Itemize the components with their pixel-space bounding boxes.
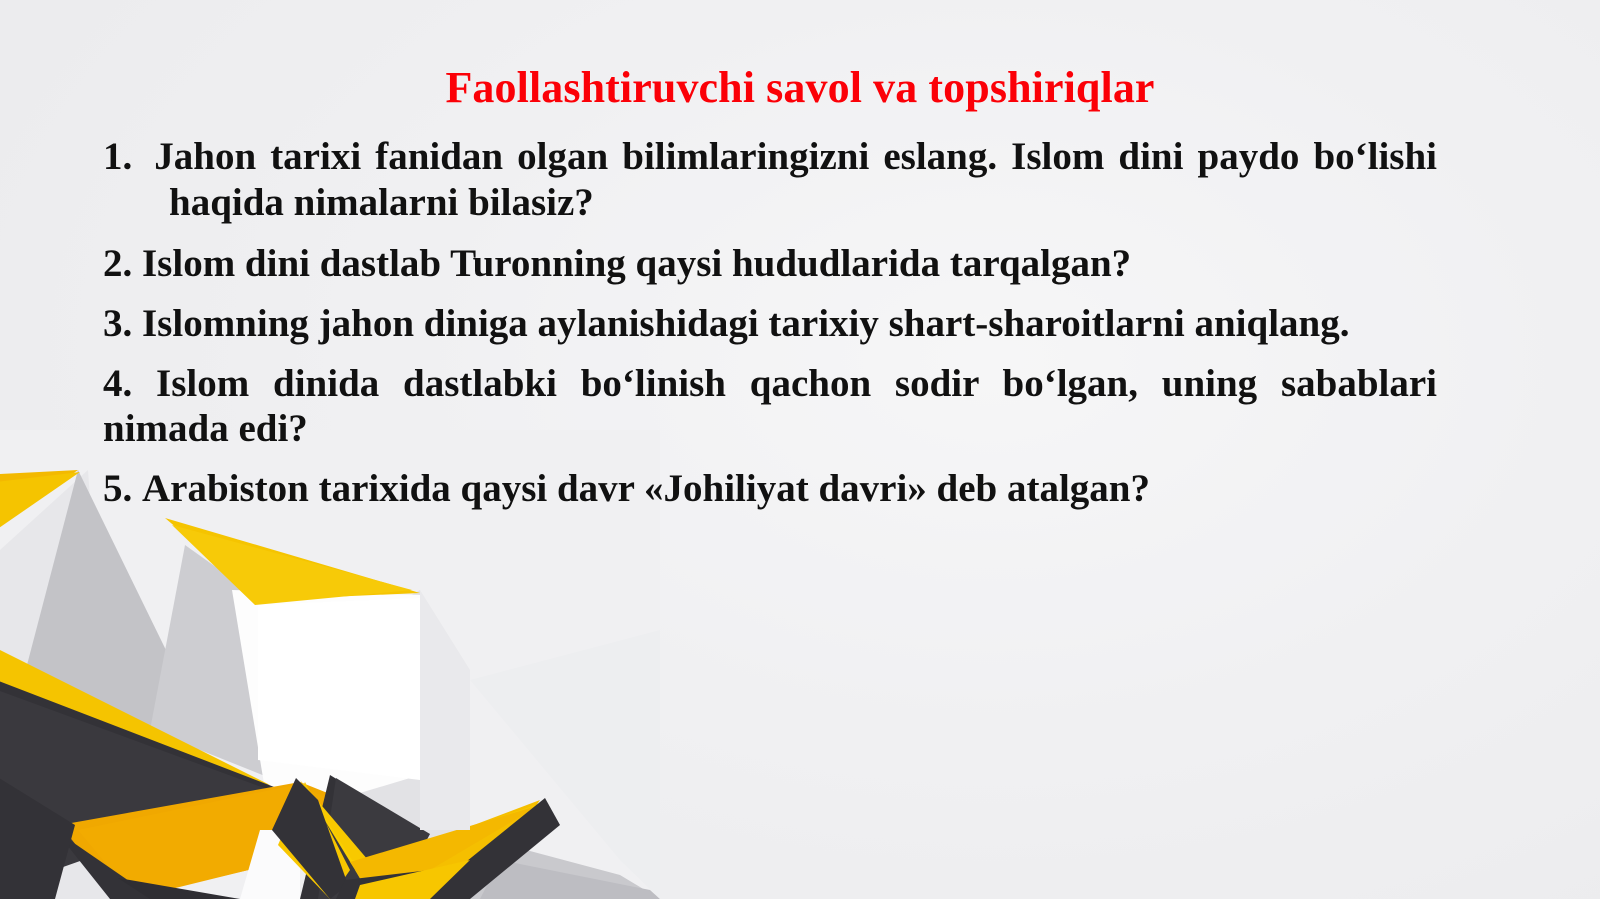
- decor-yellow-wedge-topleft-2: [0, 472, 80, 548]
- presentation-slide: Faollashtiruvchi savol va topshiriqlar 1…: [0, 0, 1600, 899]
- decor-dark-band-left-2: [0, 680, 275, 899]
- list-item-text: Islom dinida dastlabki bo‘linish qachon …: [103, 362, 1437, 451]
- list-item: 5. Arabiston tarixida qaysi davr «Johili…: [103, 466, 1437, 512]
- decor-yellow-v-right-arm: [355, 800, 540, 899]
- decor-dark-v-edge-bottom: [336, 870, 430, 899]
- list-item: 2. Islom dini dastlab Turonning qaysi hu…: [103, 241, 1437, 287]
- slide-content: Faollashtiruvchi savol va topshiriqlar 1…: [0, 0, 1600, 110]
- decor-yellow-wedge-topleft: [0, 470, 78, 545]
- list-item-number: 5.: [103, 467, 132, 510]
- decor-yellow-fan-bottom: [355, 860, 470, 899]
- decor-dark-block-bottomleft: [0, 760, 75, 899]
- decor-gray-panel-left: [0, 470, 118, 899]
- decor-gray-panel-right: [250, 590, 470, 899]
- decor-dark-diagonal-left: [55, 830, 230, 899]
- decor-white-fold-soft: [258, 598, 420, 780]
- decor-dark-diagonal-left-2: [118, 878, 240, 899]
- question-list: 1.Jahon tarixi fanidan olgan bilimlaring…: [103, 134, 1437, 511]
- decor-white-fold-bright: [232, 590, 420, 820]
- decor-gray-wedge-right-2: [480, 860, 660, 899]
- decor-amber-triangle: [60, 782, 420, 899]
- list-item-number: 2.: [103, 242, 132, 285]
- decor-dark-v-edge-left: [272, 778, 348, 899]
- decor-yellow-band-left: [0, 635, 270, 785]
- list-item: 3. Islomning jahon diniga aylanishidagi …: [103, 301, 1437, 347]
- decor-yellow-v-fill-2: [350, 805, 540, 896]
- list-item: 1.Jahon tarixi fanidan olgan bilimlaring…: [103, 134, 1437, 225]
- decor-yellow-pennant: [165, 518, 420, 600]
- list-item-text: Jahon tarixi fanidan olgan bilimlaringiz…: [154, 135, 1437, 224]
- decor-light-sliver: [300, 835, 430, 899]
- decor-pale-accent-2: [470, 630, 660, 899]
- list-item: 4. Islom dinida dastlabki bo‘linish qach…: [103, 361, 1437, 452]
- decor-gray-spire: [10, 470, 205, 899]
- list-item-number: 1.: [103, 135, 154, 178]
- list-item-text: Islomning jahon diniga aylanishidagi tar…: [142, 302, 1349, 345]
- list-item-number: 4.: [103, 362, 132, 405]
- decor-dark-band-left: [0, 670, 282, 790]
- decor-gray-wedge-right: [460, 835, 660, 899]
- decor-dark-v-edge-right: [420, 798, 560, 899]
- list-item-number: 3.: [103, 302, 132, 345]
- decor-dark-chevron-2: [318, 778, 430, 899]
- decor-yellow-v-left-arm: [278, 782, 350, 899]
- decor-pale-accent-1: [420, 590, 470, 830]
- decor-white-fold: [150, 545, 300, 790]
- decor-white-sliver: [240, 830, 420, 899]
- page-title: Faollashtiruvchi savol va topshiriqlar: [0, 66, 1600, 110]
- decor-yellow-v-fill: [312, 798, 420, 885]
- decor-yellow-pennant-2: [172, 525, 412, 605]
- list-item-text: Arabiston tarixida qaysi davr «Johiliyat…: [142, 467, 1150, 510]
- decor-dark-chevron: [300, 775, 470, 899]
- list-item-text: Islom dini dastlab Turonning qaysi hudud…: [142, 242, 1131, 285]
- decor-amber-triangle-2: [78, 785, 410, 898]
- decor-yellow-v-body: [300, 780, 545, 878]
